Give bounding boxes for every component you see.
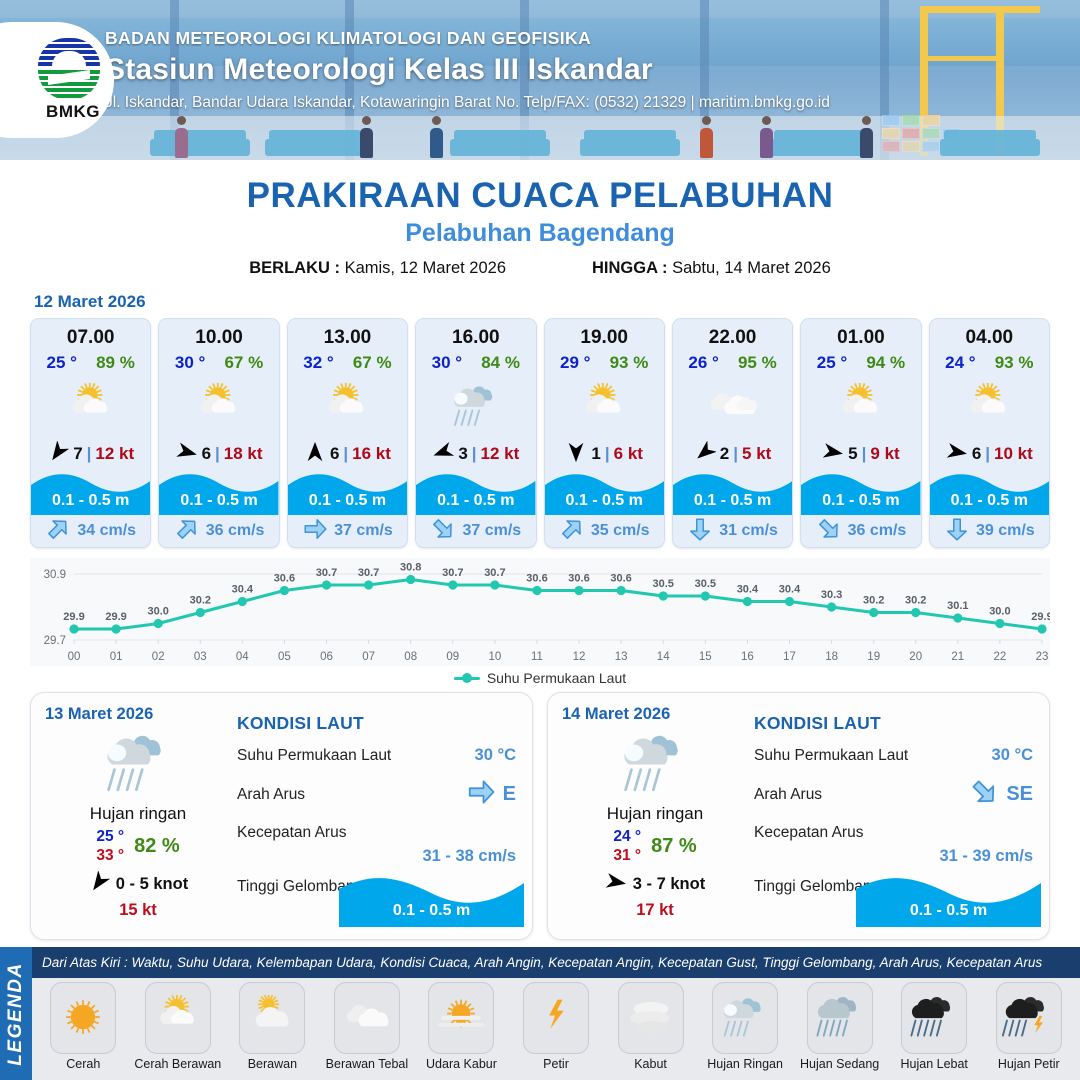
forecast-time: 07.00 [31,319,150,351]
legend-note: Dari Atas Kiri : Waktu, Suhu Udara, Kele… [32,955,1042,970]
legend-icon-list: CerahCerah BerawanBerawanBerawan TebalUd… [32,978,1080,1080]
current-direction-label: Arah Arus [237,786,305,804]
daily-temp-humidity: 25 °33 °82 % [45,828,231,865]
svg-text:30.6: 30.6 [610,573,631,585]
heavy-rain-icon [901,982,967,1054]
bmkg-logo-mark [38,38,100,100]
wind-speed: 6 [330,444,339,464]
svg-text:10: 10 [489,651,502,663]
daily-temp-range: 24 °31 ° [613,828,641,865]
svg-text:04: 04 [236,651,249,663]
mostly-cloudy-icon [239,982,305,1054]
svg-text:30.7: 30.7 [316,567,337,579]
gust-speed: 12 kt [481,444,520,464]
humidity: 94 % [866,353,905,373]
station-address: Jl. Iskandar, Bandar Udara Iskandar, Kot… [105,94,830,112]
daily-gust: 15 kt [45,901,231,920]
svg-text:30.0: 30.0 [989,606,1010,618]
wind-separator: | [985,444,990,464]
temp-humidity-row: 30 °67 % [159,351,278,373]
wind-direction-arrow-icon [822,441,844,468]
current-speed-label: Kecepatan Arus [237,824,346,842]
air-temperature: 32 ° [303,353,333,373]
legend-item-label: Berawan [248,1057,297,1071]
current-direction-value: E [503,783,516,806]
cloudy-icon [673,375,792,437]
gust-speed: 5 kt [742,444,771,464]
forecast-time: 19.00 [545,319,664,351]
current-speed-row: Kecepatan Arus [754,824,1033,842]
temp-humidity-row: 25 °89 % [31,351,150,373]
current-row: 31 cm/s [673,515,792,547]
humidity: 89 % [96,353,135,373]
daily-temp-range: 25 °33 ° [96,828,124,865]
wave-height: 0.1 - 0.5 m [416,492,535,510]
wind-row: 5|9 kt [801,439,920,469]
air-temperature: 26 ° [688,353,718,373]
svg-text:30.0: 30.0 [147,606,168,618]
fog-icon [618,982,684,1054]
temp-humidity-row: 30 °84 % [416,351,535,373]
daily-temp-humidity: 24 °31 °87 % [562,828,748,865]
temp-humidity-row: 29 °93 % [545,351,664,373]
current-speed: 39 cm/s [976,522,1035,540]
daily-wind-speed: 3 - 7 knot [633,875,705,894]
current-speed: 34 cm/s [77,522,136,540]
lightning-icon [523,982,589,1054]
current-speed: 37 cm/s [462,522,521,540]
chart-legend-label: Suhu Permukaan Laut [487,670,626,686]
legend-item: Berawan Tebal [320,982,415,1080]
partly-cloudy-icon [545,375,664,437]
sunny-icon [50,982,116,1054]
sst-chart-svg: 30.929.729.90029.90130.00230.20330.40430… [30,558,1050,666]
current-direction-arrow-icon [466,777,496,812]
forecast-time: 10.00 [159,319,278,351]
forecast-time: 04.00 [930,319,1049,351]
svg-text:03: 03 [194,651,207,663]
svg-text:30.9: 30.9 [44,569,66,581]
valid-from-value: Kamis, 12 Maret 2026 [345,259,506,277]
light-rain-icon [45,726,231,802]
current-direction-arrow-icon [45,516,71,547]
current-direction-arrow-icon [944,516,970,547]
wave-height: 0.1 - 0.5 m [31,492,150,510]
svg-text:18: 18 [825,651,838,663]
daily-humidity: 87 % [651,835,697,858]
legend-item: Hujan Ringan [698,982,793,1080]
legend-item-label: Cerah [66,1057,100,1071]
wave-height: 0.1 - 0.5 m [673,492,792,510]
wind-speed: 3 [458,444,467,464]
legend-item-label: Hujan Ringan [707,1057,783,1071]
legend-item: Hujan Lebat [887,982,982,1080]
gust-speed: 18 kt [224,444,263,464]
sst-label: Suhu Permukaan Laut [237,747,391,765]
current-direction-row: Arah Arus E [237,777,516,812]
forecast-time: 13.00 [288,319,407,351]
svg-text:14: 14 [657,651,670,663]
svg-text:17: 17 [783,651,796,663]
legend-item: Petir [509,982,604,1080]
svg-text:01: 01 [110,651,123,663]
current-speed-value: 31 - 39 cm/s [754,847,1033,866]
current-direction-row: Arah Arus SE [754,777,1033,812]
current-row: 39 cm/s [930,515,1049,547]
forecast-card[interactable]: 19.0029 °93 % 1|6 kt0.1 - 0.5 m 35 cm/s [544,318,665,548]
current-speed: 36 cm/s [848,522,907,540]
sst-value: 30 °C [475,746,516,765]
daily-temp-min: 24 ° [613,828,641,846]
daily-panel-left: 13 Maret 2026Hujan ringan25 °33 °82 % 0 … [31,693,231,939]
legend-item: Hujan Sedang [792,982,887,1080]
svg-text:30.7: 30.7 [358,567,379,579]
svg-text:07: 07 [362,651,375,663]
forecast-time: 16.00 [416,319,535,351]
valid-to: HINGGA : Sabtu, 14 Maret 2026 [592,259,831,278]
wind-separator: | [215,444,220,464]
forecast-card[interactable]: 13.0032 °67 % 6|16 kt0.1 - 0.5 m 37 cm/s [287,318,408,548]
humidity: 67 % [353,353,392,373]
wind-row: 6|10 kt [930,439,1049,469]
daily-wave-band: 0.1 - 0.5 m [339,871,524,927]
daily-gust: 17 kt [562,901,748,920]
svg-text:08: 08 [404,651,417,663]
forecast-card[interactable]: 04.0024 °93 % 6|10 kt0.1 - 0.5 m 39 cm/s [929,318,1050,548]
wind-separator: | [862,444,867,464]
daily-panel-left: 14 Maret 2026Hujan ringan24 °31 °87 % 3 … [548,693,748,939]
legend-item-label: Hujan Petir [998,1057,1060,1071]
current-row: 37 cm/s [288,515,407,547]
daily-forecast-panel[interactable]: 13 Maret 2026Hujan ringan25 °33 °82 % 0 … [30,692,533,940]
daily-wave-value: 0.1 - 0.5 m [339,902,524,920]
current-direction-arrow-icon [302,516,328,547]
forecast-card[interactable]: 16.0030 °84 % 3|12 kt0.1 - 0.5 m 37 cm/s [415,318,536,548]
wave-height-band: 0.1 - 0.5 m [288,469,407,515]
temp-humidity-row: 32 °67 % [288,351,407,373]
bmkg-logo-label: BMKG [46,102,100,122]
current-direction-arrow-icon [174,516,200,547]
sst-value: 30 °C [992,746,1033,765]
humidity: 95 % [738,353,777,373]
wind-direction-arrow-icon [432,441,454,468]
wind-separator: | [343,444,348,464]
wind-direction-arrow-icon [946,441,968,468]
svg-text:30.6: 30.6 [526,573,547,585]
wave-height-band: 0.1 - 0.5 m [673,469,792,515]
current-direction-arrow-icon [969,777,999,812]
temp-humidity-row: 26 °95 % [673,351,792,373]
daily-date: 14 Maret 2026 [562,705,748,724]
wave-height: 0.1 - 0.5 m [801,492,920,510]
legend-item-label: Petir [543,1057,569,1071]
legend-item: Cerah [36,982,131,1080]
daily-forecast-panel[interactable]: 14 Maret 2026Hujan ringan24 °31 °87 % 3 … [547,692,1050,940]
current-speed-value: 31 - 38 cm/s [237,847,516,866]
wave-height-band: 0.1 - 0.5 m [31,469,150,515]
validity-row: BERLAKU : Kamis, 12 Maret 2026 HINGGA : … [0,259,1080,278]
partly-cloudy-icon [930,375,1049,437]
current-row: 36 cm/s [159,515,278,547]
wind-direction-arrow-icon [304,441,326,468]
current-speed-label: Kecepatan Arus [754,824,863,842]
valid-to-value: Sabtu, 14 Maret 2026 [672,259,831,277]
humidity: 93 % [610,353,649,373]
current-row: 37 cm/s [416,515,535,547]
wave-height-band: 0.1 - 0.5 m [159,469,278,515]
air-temperature: 30 ° [432,353,462,373]
legend-item-label: Udara Kabur [426,1057,497,1071]
current-direction-arrow-icon [816,516,842,547]
svg-text:29.9: 29.9 [105,611,126,623]
svg-text:30.3: 30.3 [821,589,842,601]
sst-row: Suhu Permukaan Laut30 °C [237,746,516,765]
light-rain-icon [712,982,778,1054]
wind-speed: 1 [591,444,600,464]
forecast-day-label: 12 Maret 2026 [34,292,1080,312]
daily-temp-max: 33 ° [96,847,124,865]
svg-text:30.4: 30.4 [737,584,759,596]
chart-legend: Suhu Permukaan Laut [0,670,1080,686]
chart-legend-marker-icon [454,677,480,680]
svg-text:19: 19 [867,651,880,663]
daily-wind-speed: 0 - 5 knot [116,875,188,894]
current-speed: 31 cm/s [719,522,778,540]
svg-text:00: 00 [68,651,81,663]
wind-speed: 6 [202,444,211,464]
daily-forecast-panels: 13 Maret 2026Hujan ringan25 °33 °82 % 0 … [0,686,1080,940]
legend-item-label: Hujan Sedang [800,1057,879,1071]
forecast-card[interactable]: 10.0030 °67 % 6|18 kt0.1 - 0.5 m 36 cm/s [158,318,279,548]
legend-section: LEGENDA Dari Atas Kiri : Waktu, Suhu Uda… [0,947,1080,1080]
svg-text:21: 21 [951,651,964,663]
station-name: Stasiun Meteorologi Kelas III Iskandar [105,53,830,87]
partly-cloudy-icon [31,375,150,437]
legend-item-label: Berawan Tebal [326,1057,408,1071]
current-row: 34 cm/s [31,515,150,547]
forecast-card[interactable]: 22.0026 °95 % 2|5 kt0.1 - 0.5 m 31 cm/s [672,318,793,548]
svg-text:30.6: 30.6 [274,573,295,585]
humidity: 93 % [995,353,1034,373]
light-rain-icon [416,375,535,437]
legend-tab: LEGENDA [0,947,32,1080]
wind-direction-arrow-icon [565,441,587,468]
current-direction-value-group: E [466,777,516,812]
svg-text:30.5: 30.5 [652,578,673,590]
svg-text:29.7: 29.7 [44,635,66,647]
legend-item: Udara Kabur [414,982,509,1080]
svg-text:05: 05 [278,651,291,663]
svg-text:30.5: 30.5 [695,578,716,590]
daily-date: 13 Maret 2026 [45,705,231,724]
gust-speed: 9 kt [870,444,899,464]
air-temperature: 30 ° [175,353,205,373]
legend-item-label: Cerah Berawan [134,1057,221,1071]
svg-text:30.2: 30.2 [863,595,884,607]
humidity: 84 % [481,353,520,373]
daily-humidity: 82 % [134,835,180,858]
wind-row: 6|16 kt [288,439,407,469]
svg-text:30.2: 30.2 [905,595,926,607]
legend-item: Berawan [225,982,320,1080]
sst-label: Suhu Permukaan Laut [754,747,908,765]
current-direction-label: Arah Arus [754,786,822,804]
current-direction-arrow-icon [559,516,585,547]
sst-row: Suhu Permukaan Laut30 °C [754,746,1033,765]
svg-text:02: 02 [152,651,165,663]
agency-name: BADAN METEOROLOGI KLIMATOLOGI DAN GEOFIS… [105,28,830,49]
sst-chart: 30.929.729.90029.90130.00230.20330.40430… [30,558,1050,668]
svg-text:09: 09 [446,651,459,663]
current-row: 36 cm/s [801,515,920,547]
svg-text:30.6: 30.6 [568,573,589,585]
wind-row: 2|5 kt [673,439,792,469]
wave-height: 0.1 - 0.5 m [159,492,278,510]
daily-wind-row: 3 - 7 knot [562,871,748,898]
wind-direction-arrow-icon [47,441,69,468]
header-text-block: BADAN METEOROLOGI KLIMATOLOGI DAN GEOFIS… [105,28,830,112]
svg-text:29.9: 29.9 [1031,611,1050,623]
legend-note-strip: Dari Atas Kiri : Waktu, Suhu Udara, Kele… [32,947,1080,978]
svg-text:23: 23 [1036,651,1049,663]
current-direction-value-group: SE [969,777,1033,812]
page-title-block: PRAKIRAAN CUACA PELABUHAN Pelabuhan Bage… [0,176,1080,278]
svg-text:29.9: 29.9 [63,611,84,623]
wind-row: 7|12 kt [31,439,150,469]
valid-to-label: HINGGA : [592,259,667,277]
wind-separator: | [605,444,610,464]
air-temperature: 24 ° [945,353,975,373]
legend-item: Hujan Petir [981,982,1076,1080]
wind-speed: 6 [972,444,981,464]
daily-temp-max: 31 ° [613,847,641,865]
daily-temp-min: 25 ° [96,828,124,846]
partly-cloudy-icon [145,982,211,1054]
current-row: 35 cm/s [545,515,664,547]
temp-humidity-row: 25 °94 % [801,351,920,373]
wind-speed: 7 [73,444,82,464]
legend-item-label: Kabut [634,1057,667,1071]
svg-text:30.7: 30.7 [442,567,463,579]
svg-text:30.2: 30.2 [190,595,211,607]
legend-tab-label: LEGENDA [5,962,27,1065]
wind-row: 3|12 kt [416,439,535,469]
gust-speed: 10 kt [994,444,1033,464]
bmkg-logo: BMKG [0,22,114,138]
daily-panel-right: KONDISI LAUTSuhu Permukaan Laut30 °CArah… [231,693,532,939]
svg-text:06: 06 [320,651,333,663]
current-direction-value: SE [1006,783,1033,806]
wind-speed: 5 [848,444,857,464]
air-temperature: 29 ° [560,353,590,373]
valid-from: BERLAKU : Kamis, 12 Maret 2026 [249,259,506,278]
overcast-icon [334,982,400,1054]
partly-cloudy-icon [801,375,920,437]
daily-condition: Hujan ringan [45,804,231,824]
wind-row: 6|18 kt [159,439,278,469]
partly-cloudy-icon [159,375,278,437]
current-speed: 35 cm/s [591,522,650,540]
current-direction-arrow-icon [430,516,456,547]
svg-text:22: 22 [994,651,1007,663]
svg-text:30.4: 30.4 [779,584,801,596]
wave-height-band: 0.1 - 0.5 m [416,469,535,515]
light-rain-icon [562,726,748,802]
wind-separator: | [472,444,477,464]
air-temperature: 25 ° [817,353,847,373]
forecast-card[interactable]: 07.0025 °89 % 7|12 kt0.1 - 0.5 m 34 cm/s [30,318,151,548]
port-name: Pelabuhan Bagendang [0,219,1080,248]
daily-wind-row: 0 - 5 knot [45,871,231,898]
wind-separator: | [733,444,738,464]
page-header: BMKG BADAN METEOROLOGI KLIMATOLOGI DAN G… [0,0,1080,160]
daily-panel-right: KONDISI LAUTSuhu Permukaan Laut30 °CArah… [748,693,1049,939]
current-speed: 36 cm/s [206,522,265,540]
partly-cloudy-icon [288,375,407,437]
svg-text:15: 15 [699,651,712,663]
wind-speed: 2 [720,444,729,464]
gust-speed: 6 kt [614,444,643,464]
page-title: PRAKIRAAN CUACA PELABUHAN [0,176,1080,216]
svg-text:30.1: 30.1 [947,600,968,612]
svg-text:30.8: 30.8 [400,562,421,574]
gust-speed: 12 kt [95,444,134,464]
daily-wave-band: 0.1 - 0.5 m [856,871,1041,927]
wave-height-band: 0.1 - 0.5 m [545,469,664,515]
legend-item-label: Hujan Lebat [900,1057,967,1071]
air-temperature: 25 ° [47,353,77,373]
haze-icon [428,982,494,1054]
svg-text:11: 11 [531,651,543,663]
svg-text:13: 13 [615,651,628,663]
svg-text:20: 20 [909,651,922,663]
sea-condition-title: KONDISI LAUT [754,713,1033,734]
forecast-time: 22.00 [673,319,792,351]
sea-condition-title: KONDISI LAUT [237,713,516,734]
forecast-time: 01.00 [801,319,920,351]
wave-height-band: 0.1 - 0.5 m [801,469,920,515]
current-direction-arrow-icon [687,516,713,547]
humidity: 67 % [224,353,263,373]
wave-height: 0.1 - 0.5 m [930,492,1049,510]
current-speed: 37 cm/s [334,522,393,540]
hourly-forecast-row: 07.0025 °89 % 7|12 kt0.1 - 0.5 m 34 cm/s… [0,318,1080,548]
wind-direction-arrow-icon [605,871,627,898]
wind-row: 1|6 kt [545,439,664,469]
daily-wave-value: 0.1 - 0.5 m [856,902,1041,920]
wave-height-band: 0.1 - 0.5 m [930,469,1049,515]
legend-item: Cerah Berawan [131,982,226,1080]
wave-height: 0.1 - 0.5 m [545,492,664,510]
wind-direction-arrow-icon [88,871,110,898]
wind-direction-arrow-icon [176,441,198,468]
valid-from-label: BERLAKU : [249,259,340,277]
thunderstorm-rain-icon [996,982,1062,1054]
svg-text:16: 16 [741,651,754,663]
wind-separator: | [87,444,92,464]
daily-condition: Hujan ringan [562,804,748,824]
svg-text:12: 12 [573,651,586,663]
wave-height: 0.1 - 0.5 m [288,492,407,510]
temp-humidity-row: 24 °93 % [930,351,1049,373]
forecast-card[interactable]: 01.0025 °94 % 5|9 kt0.1 - 0.5 m 36 cm/s [800,318,921,548]
svg-text:30.7: 30.7 [484,567,505,579]
moderate-rain-icon [807,982,873,1054]
wind-direction-arrow-icon [694,441,716,468]
gust-speed: 16 kt [352,444,391,464]
legend-item: Kabut [603,982,698,1080]
current-speed-row: Kecepatan Arus [237,824,516,842]
